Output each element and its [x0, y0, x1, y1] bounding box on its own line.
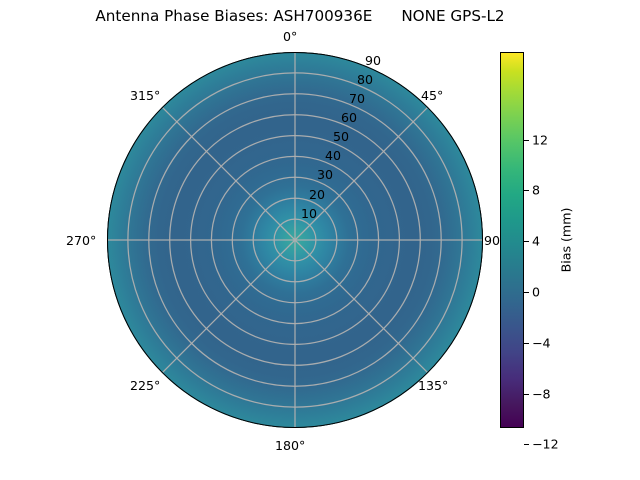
colorbar-tick-mark-m8 [524, 394, 529, 395]
radial-tick-60: 60 [341, 110, 357, 125]
colorbar-tick-mark-12 [524, 140, 529, 141]
radial-tick-40: 40 [325, 148, 341, 163]
colorbar-gradient [500, 52, 524, 428]
azimuth-tick-90: 90 [484, 233, 500, 248]
radial-tick-70: 70 [349, 91, 365, 106]
colorbar-tick-mark-8 [524, 190, 529, 191]
colorbar-axis-label: Bias (mm) [559, 208, 574, 273]
polar-plot-figure: Antenna Phase Biases: ASH700936E NONE GP… [0, 0, 640, 480]
colorbar-tick-label-12: 12 [532, 133, 548, 148]
azimuth-tick-315: 315° [130, 88, 160, 103]
radial-tick-90: 90 [365, 53, 381, 68]
colorbar-tick-label-8: 8 [532, 183, 540, 198]
colorbar-tick-mark-0 [524, 292, 529, 293]
azimuth-tick-45: 45° [421, 88, 443, 103]
azimuth-tick-0: 0° [283, 29, 297, 44]
polar-gridlines [107, 52, 483, 428]
colorbar-tick-mark-m4 [524, 343, 529, 344]
colorbar[interactable]: 12 8 4 0 −4 −8 −12 [500, 52, 524, 428]
colorbar-tick-mark-m12 [524, 444, 529, 445]
azimuth-tick-270: 270° [66, 233, 96, 248]
figure-title: Antenna Phase Biases: ASH700936E NONE GP… [0, 7, 600, 25]
colorbar-tick-mark-4 [524, 241, 529, 242]
colorbar-tick-label-0: 0 [532, 285, 540, 300]
colorbar-tick-label-m12: −12 [532, 437, 559, 452]
azimuth-tick-180: 180° [275, 438, 305, 453]
radial-tick-20: 20 [309, 187, 325, 202]
radial-tick-50: 50 [333, 129, 349, 144]
radial-tick-10: 10 [301, 206, 317, 221]
colorbar-tick-label-m8: −8 [532, 387, 551, 402]
radial-tick-80: 80 [357, 72, 373, 87]
azimuth-tick-135: 135° [418, 378, 448, 393]
colorbar-tick-label-m4: −4 [532, 336, 551, 351]
radial-tick-30: 30 [317, 167, 333, 182]
polar-axes[interactable] [107, 52, 483, 428]
azimuth-tick-225: 225° [130, 378, 160, 393]
colorbar-tick-label-4: 4 [532, 234, 540, 249]
